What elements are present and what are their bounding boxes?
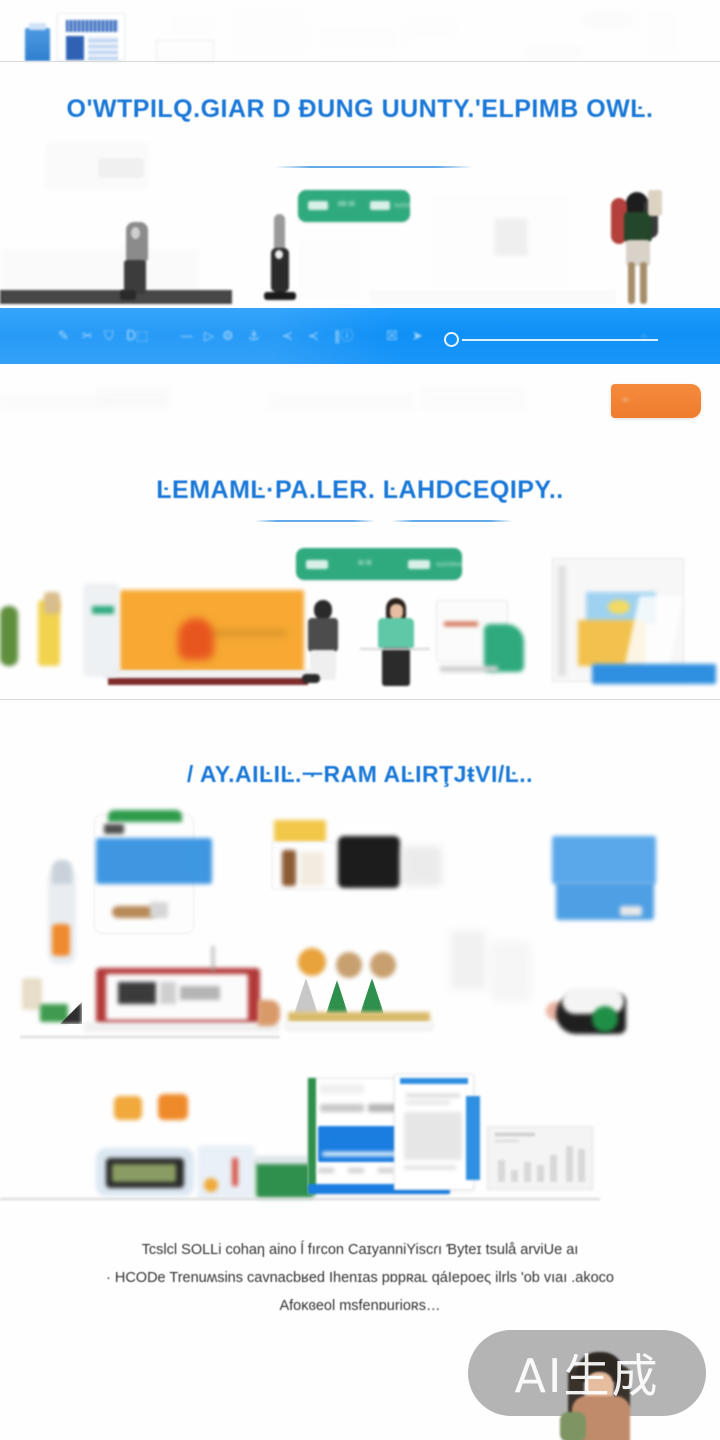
ghost-monitor-content bbox=[494, 218, 528, 256]
dash-poster-caption bbox=[404, 1166, 456, 1169]
dash-appliance-content bbox=[112, 1164, 176, 1182]
counter-bar bbox=[370, 290, 616, 304]
dash-poster-text-1 bbox=[406, 1094, 460, 1097]
dash-screen-titlebar bbox=[320, 1084, 364, 1094]
page-root: O'WTPILQ.GIAR D ĐUNG UUNTY.'ELPIMB OWĿ. … bbox=[0, 0, 720, 1440]
dash-bucket bbox=[256, 1160, 314, 1198]
laptop-screen-thumb bbox=[118, 982, 156, 1004]
mid-banner-text: ‖‖ ‖‖ bbox=[358, 560, 372, 567]
dash-accent-red bbox=[232, 1158, 238, 1186]
chart-bar-6 bbox=[566, 1146, 573, 1182]
pencil-icon[interactable]: ✎ bbox=[58, 328, 69, 346]
banner-chip-2 bbox=[370, 201, 390, 210]
section-heading-1: O'WTPILQ.GIAR D ĐUNG UUNTY.'ELPIMB OWĿ. bbox=[0, 95, 720, 124]
product-blue-case-latch bbox=[620, 906, 642, 916]
product-cookie-3 bbox=[370, 952, 396, 978]
anchor-icon[interactable]: ⚓ bbox=[248, 328, 260, 346]
snack-1 bbox=[114, 1096, 142, 1120]
ai-generated-watermark: AI生成 bbox=[468, 1330, 706, 1416]
mid-banner-chip-2 bbox=[408, 560, 430, 569]
dash-accent-orange bbox=[204, 1178, 218, 1192]
chevron-left-icon[interactable]: ≺ bbox=[282, 328, 293, 346]
dash-poster-side-blue bbox=[466, 1096, 480, 1180]
vacuum-head bbox=[52, 860, 72, 884]
laptop-screen-thumb-3 bbox=[180, 986, 220, 1000]
product-cookie-2 bbox=[336, 952, 362, 978]
orange-cta-label: ·ıı·· bbox=[620, 395, 634, 404]
ai-watermark-text: AI生成 bbox=[514, 1340, 659, 1406]
zoom-slider-track[interactable] bbox=[462, 339, 658, 341]
hero-shelf-scene bbox=[0, 0, 720, 62]
ghost-appliance-6 bbox=[640, 6, 682, 60]
banner-chip-3-text: \u2016\u2016 bbox=[394, 203, 431, 209]
person-shopper-right bbox=[606, 190, 668, 306]
dash-screen-green-rail bbox=[308, 1078, 316, 1194]
upright-appliance bbox=[262, 214, 296, 304]
kiosk-poster-motif bbox=[608, 600, 630, 614]
dash-poster-text-2 bbox=[406, 1101, 450, 1104]
section-heading-2: ĿEMAMĿ·PA.LER. ĿAHDCEQIPY.. bbox=[0, 476, 720, 505]
play-icon[interactable]: ➤ bbox=[412, 328, 423, 346]
document-icon[interactable]: D⬚ bbox=[126, 328, 148, 346]
ghost-block-5 bbox=[582, 12, 634, 28]
ghost-faucet bbox=[450, 930, 486, 990]
green-banner-top: ‖‖‖·‖‖ \u2016\u2016 bbox=[298, 190, 410, 222]
product-tree-2 bbox=[326, 980, 348, 1014]
dash-screen-chip-3 bbox=[378, 1168, 394, 1173]
card-green-top bbox=[108, 810, 182, 822]
scissors-icon[interactable]: ✂ bbox=[82, 328, 93, 346]
shelf-divider-line bbox=[0, 61, 720, 62]
blue-shopping-bag bbox=[25, 28, 50, 61]
ghost-row-item-4 bbox=[420, 386, 526, 412]
caption-line-3: Afoĸɞeol msfenɒurioʀs… bbox=[0, 1292, 720, 1320]
product-tray-base bbox=[284, 1022, 434, 1032]
chart-bar-5 bbox=[550, 1155, 557, 1182]
green-plant bbox=[0, 606, 18, 666]
dash-chart-card bbox=[487, 1126, 593, 1190]
snack-2 bbox=[158, 1094, 188, 1120]
banner-chip-1 bbox=[308, 201, 328, 210]
photo-foliage bbox=[560, 1412, 586, 1440]
person-worker-2 bbox=[372, 598, 420, 690]
storefront-sign bbox=[66, 20, 118, 32]
product-tree-1 bbox=[294, 978, 318, 1014]
truck-chassis bbox=[108, 678, 308, 685]
person-shopper-left bbox=[118, 222, 154, 302]
caption-line-2: · HCODe Trenuʍsins cavnacbʁed Ihenɪas pɒ… bbox=[0, 1264, 720, 1292]
product-black-appliance bbox=[338, 836, 400, 888]
ghost-dispenser bbox=[490, 940, 532, 1002]
tag-icon[interactable]: ▷ bbox=[204, 328, 214, 346]
product-ghost-appliance bbox=[402, 846, 442, 886]
section-divider-2a bbox=[255, 520, 375, 522]
ghost-appliance-3 bbox=[312, 22, 402, 54]
ghost-washer bbox=[300, 240, 358, 298]
dash-screen-toolbar-1 bbox=[320, 1104, 364, 1112]
white-appliance bbox=[84, 584, 118, 676]
green-wheelbarrow bbox=[484, 624, 524, 672]
dashboard-floor-line bbox=[0, 1198, 600, 1200]
dark-counter-strip bbox=[0, 290, 232, 304]
section-heading-3: / AY.AIĿIĿ.ᅮRAM AĿIRŢJŧVI/Ŀ.. bbox=[0, 755, 720, 789]
gear-icon[interactable]: ⚙ bbox=[222, 328, 234, 346]
section-divider-1 bbox=[275, 166, 473, 168]
laptop-screen-thumb-2 bbox=[160, 982, 176, 1004]
dash-poster-image bbox=[404, 1112, 462, 1160]
trash-icon[interactable]: ☒ bbox=[386, 328, 398, 346]
kiosk-rail bbox=[558, 566, 566, 676]
green-banner-middle: ‖‖ ‖‖ \u2016\u2016 bbox=[296, 548, 462, 580]
shield-icon[interactable]: ⛉ bbox=[104, 328, 114, 346]
ghost-appliance-4 bbox=[404, 12, 466, 42]
card-blue-overlay bbox=[96, 838, 212, 884]
grid-floor-line-1 bbox=[20, 1036, 280, 1038]
orange-panel-line bbox=[212, 632, 286, 634]
vacuum-orange-grip bbox=[52, 924, 70, 956]
small-object-cream bbox=[22, 978, 42, 1010]
chart-title-bar bbox=[495, 1133, 535, 1136]
chart-icon[interactable]: ‖ⓘ bbox=[334, 328, 354, 346]
person-worker-1 bbox=[300, 600, 344, 686]
product-tray bbox=[288, 1012, 430, 1022]
product-iron-dial bbox=[592, 1006, 618, 1032]
banner-top-text: ‖‖‖·‖‖ bbox=[338, 201, 355, 208]
storefront-door bbox=[66, 36, 84, 60]
mid-banner-chip-3-text: \u2016\u2016 bbox=[436, 562, 473, 568]
laptop-side-handle bbox=[258, 1000, 280, 1026]
chart-bar-4 bbox=[537, 1165, 544, 1182]
chevron-left-small-icon[interactable]: ≺ bbox=[308, 328, 319, 346]
laptop-base bbox=[84, 1022, 280, 1032]
display-frame bbox=[156, 40, 214, 62]
printer-tray bbox=[98, 158, 144, 178]
mid-banner-chip-1 bbox=[306, 560, 328, 569]
caption-line-1: Tcslcl SOLLi cohaƞ aino ĺ fırcon Caɪyann… bbox=[0, 1236, 720, 1264]
card-utensils bbox=[150, 902, 168, 918]
dash-poster-topbar bbox=[400, 1078, 468, 1084]
orange-cta-button[interactable]: ·ıı·· bbox=[611, 384, 701, 418]
blue-container bbox=[592, 664, 716, 684]
chart-bar-1 bbox=[498, 1160, 505, 1182]
product-cookie-1 bbox=[298, 948, 326, 976]
dash-screen-chip-1 bbox=[318, 1168, 334, 1173]
chart-subtitle-bar bbox=[495, 1140, 519, 1142]
product-bottle-1 bbox=[282, 850, 296, 886]
dash-bucket-rim bbox=[254, 1156, 316, 1164]
small-object-green bbox=[40, 1004, 68, 1022]
product-blue-case bbox=[552, 836, 656, 884]
zoom-slider-handle[interactable] bbox=[444, 332, 459, 347]
ghost-appliance-2 bbox=[228, 2, 308, 60]
storefront-card bbox=[57, 13, 125, 61]
card-logo-chip bbox=[104, 824, 124, 834]
section-divider-2b bbox=[392, 520, 512, 522]
blue-toolbar[interactable]: ✎ ✂ ⛉ D⬚ — ▷ ⚙ ⚓ ≺ ≺ ‖ⓘ ☒ ➤ bbox=[0, 308, 720, 364]
chart-bar-2 bbox=[511, 1170, 518, 1182]
cabinet-red-strip bbox=[444, 622, 478, 626]
product-yellow-box bbox=[274, 820, 326, 842]
dash-screen-chip-2 bbox=[348, 1168, 364, 1173]
ghost-row-item-2 bbox=[96, 384, 170, 406]
laptop-antenna bbox=[212, 946, 214, 972]
storefront-window bbox=[88, 36, 118, 60]
ghost-desk bbox=[0, 248, 200, 292]
cabinet-shelf bbox=[440, 666, 498, 672]
zoom-slider-end-label: ·∶· bbox=[640, 332, 647, 341]
beige-column bbox=[44, 592, 60, 614]
workshop-floor-line bbox=[0, 699, 720, 700]
ghost-block-7 bbox=[524, 46, 582, 60]
caption-block: Tcslcl SOLLi cohaƞ aino ĺ fırcon Caɪyann… bbox=[0, 1236, 720, 1320]
work-table-edge bbox=[360, 648, 430, 650]
orange-panel-graphic bbox=[178, 618, 214, 660]
chart-bar-7 bbox=[578, 1149, 585, 1182]
white-appliance-accent bbox=[92, 606, 114, 614]
ghost-row-item-3 bbox=[268, 392, 414, 412]
product-tree-3 bbox=[360, 978, 384, 1014]
chart-bar-3 bbox=[524, 1162, 531, 1182]
dash-icon[interactable]: — bbox=[180, 328, 193, 346]
product-bottle-2 bbox=[300, 852, 324, 886]
